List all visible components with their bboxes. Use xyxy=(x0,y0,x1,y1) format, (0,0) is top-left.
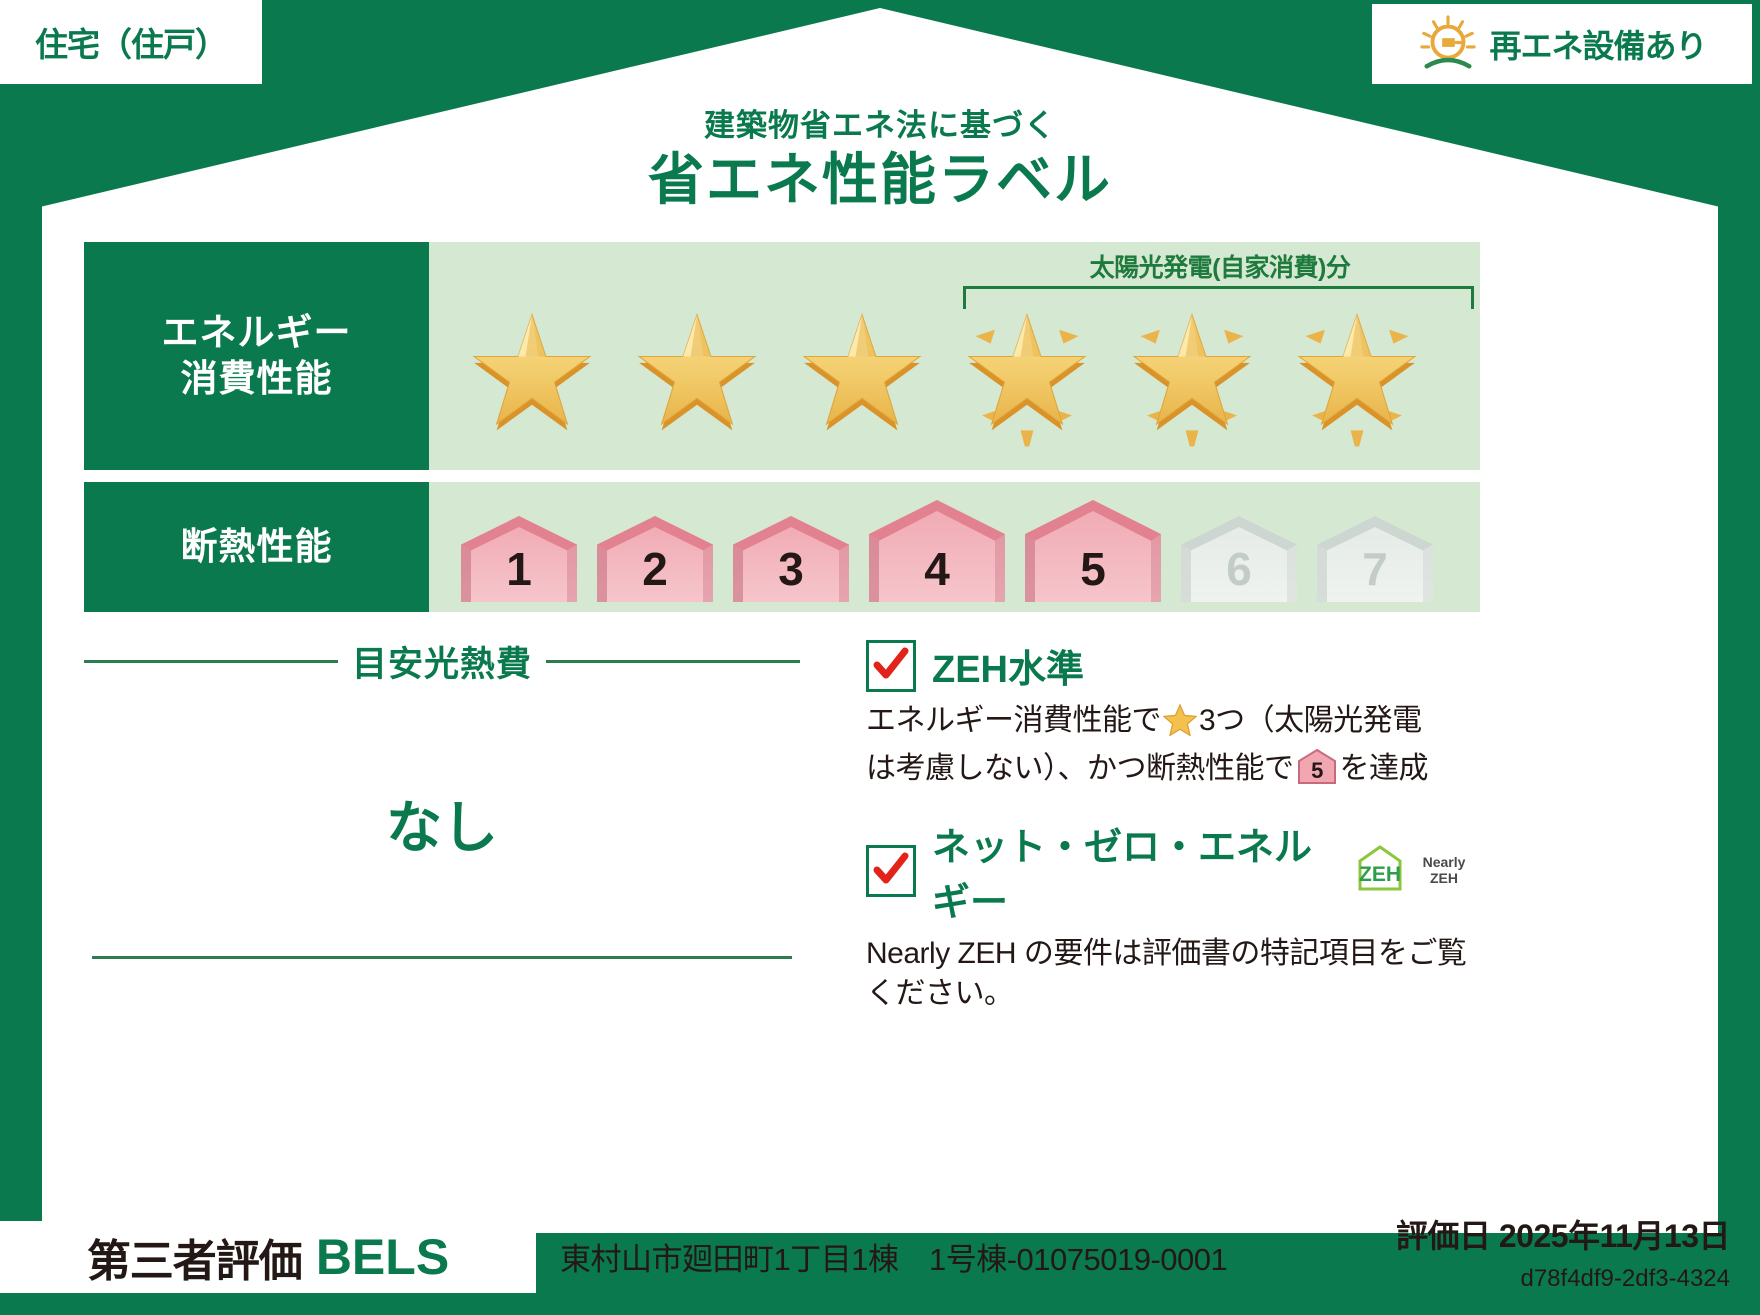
building-type-badge: 住宅（住戸） xyxy=(0,0,262,84)
inline-star-icon xyxy=(1163,710,1197,743)
insulation-level-number: 2 xyxy=(589,542,721,596)
bels-energy-label: 住宅（住戸） 再エネ設備あり 建築物省エ xyxy=(0,0,1760,1315)
rating-rows: エネルギー 消費性能 太陽光発電(自家消費)分 xyxy=(84,242,1480,624)
zeh-block: ZEH水準 エネルギー消費性能で3つ（太陽光発電は考慮しない）、かつ断熱性能で5… xyxy=(866,638,1486,1015)
energy-star-list xyxy=(429,289,1480,464)
insulation-level-7: 7 xyxy=(1309,512,1441,608)
energy-label-line1: エネルギー xyxy=(162,310,352,356)
insulation-label-text: 断熱性能 xyxy=(181,524,333,570)
star-icon xyxy=(787,304,937,454)
evaluation-date: 評価日 2025年11月13日 xyxy=(1396,1211,1730,1257)
star-icon xyxy=(457,304,607,454)
energy-label-line2: 消費性能 xyxy=(181,356,333,402)
zeh-desc-part-c: は考慮しない）、かつ断熱性能で xyxy=(866,752,1294,785)
check-icon xyxy=(871,848,911,890)
zeh-standard-description: エネルギー消費性能で3つ（太陽光発電は考慮しない）、かつ断熱性能で5を達成 xyxy=(866,701,1486,798)
insulation-performance-label: 断熱性能 xyxy=(84,482,429,612)
energy-star-4 xyxy=(944,294,1109,464)
estimated-cost-label: 目安光熱費 xyxy=(352,636,532,687)
insulation-level-number: 6 xyxy=(1173,542,1305,596)
svg-text:ZEH: ZEH xyxy=(1430,870,1458,886)
solar-plug-icon xyxy=(1417,13,1479,75)
insulation-level-1: 1 xyxy=(453,512,585,608)
inline-house-badge: 5 xyxy=(1297,760,1337,793)
net-zero-energy-row: ネット・ゼロ・エネルギー ZEH Nearly ZEH xyxy=(866,816,1486,926)
title-subtitle: 建築物省エネ法に基づく xyxy=(0,100,1760,145)
nearly-zeh-description: Nearly ZEH の要件は評価書の特記項目をご覧ください。 xyxy=(866,934,1486,1016)
insulation-level-6: 6 xyxy=(1173,512,1305,608)
zeh-desc-part-d: を達成 xyxy=(1340,752,1429,785)
insulation-level-5: 5 xyxy=(1017,496,1169,608)
energy-star-3 xyxy=(779,294,944,464)
insulation-level-list: 1 2 xyxy=(453,496,1441,608)
insulation-level-number: 7 xyxy=(1309,542,1441,596)
estimated-utility-cost-block: 目安光熱費 なし xyxy=(84,636,800,864)
energy-star-5 xyxy=(1109,294,1274,464)
heading-rule-right xyxy=(546,660,800,663)
zeh-desc-part-a: エネルギー消費性能で xyxy=(866,704,1161,737)
zeh-desc-part-b: 3つ（太陽光発電 xyxy=(1199,704,1422,737)
insulation-level-number: 4 xyxy=(861,542,1013,596)
energy-star-6 xyxy=(1274,294,1439,464)
star-icon xyxy=(952,304,1102,454)
insulation-level-number: 3 xyxy=(725,542,857,596)
renewable-energy-badge: 再エネ設備あり xyxy=(1372,4,1752,84)
heading-rule-left xyxy=(84,660,338,663)
svg-text:5: 5 xyxy=(1311,758,1323,783)
solar-bracket-label: 太陽光発電(自家消費)分 xyxy=(960,248,1480,284)
star-icon xyxy=(622,304,772,454)
evaluation-id: d78f4df9-2df3-4324 xyxy=(1520,1265,1730,1293)
bels-badge: 第三者評価 BELS xyxy=(0,1221,536,1293)
insulation-level-4: 4 xyxy=(861,496,1013,608)
check-icon xyxy=(871,643,911,685)
insulation-rating-body: 1 2 xyxy=(429,482,1480,612)
insulation-performance-row: 断熱性能 1 xyxy=(84,482,1480,612)
energy-performance-row: エネルギー 消費性能 太陽光発電(自家消費)分 xyxy=(84,242,1480,470)
energy-star-1 xyxy=(449,294,614,464)
nearly-zeh-logo: ZEH Nearly ZEH xyxy=(1354,843,1486,898)
insulation-level-number: 5 xyxy=(1017,542,1169,596)
page-title: 省エネ性能ラベル xyxy=(0,151,1760,210)
insulation-level-3: 3 xyxy=(725,512,857,608)
title-block: 建築物省エネ法に基づく 省エネ性能ラベル xyxy=(0,100,1760,210)
svg-text:Nearly: Nearly xyxy=(1423,854,1466,870)
bels-jp-label: 第三者評価 xyxy=(87,1225,302,1289)
property-address: 東村山市廻田町1丁目1棟 1号棟-01075019-0001 xyxy=(560,1234,1227,1279)
energy-performance-label: エネルギー 消費性能 xyxy=(84,242,429,470)
insulation-level-2: 2 xyxy=(589,512,721,608)
estimated-cost-heading: 目安光熱費 xyxy=(84,636,800,687)
net-zero-energy-checkbox[interactable] xyxy=(866,845,916,897)
renewable-energy-label: 再エネ設備あり xyxy=(1489,21,1706,67)
star-icon xyxy=(1117,304,1267,454)
svg-text:ZEH: ZEH xyxy=(1359,863,1401,886)
building-type-label: 住宅（住戸） xyxy=(35,18,227,66)
star-icon xyxy=(1282,304,1432,454)
zeh-standard-checkbox[interactable] xyxy=(866,640,916,692)
cost-bottom-rule xyxy=(92,956,792,959)
zeh-standard-row: ZEH水準 xyxy=(866,638,1486,693)
zeh-standard-label: ZEH水準 xyxy=(932,638,1084,693)
estimated-cost-value: なし xyxy=(84,783,800,864)
energy-rating-body: 太陽光発電(自家消費)分 xyxy=(429,242,1480,470)
bels-en-label: BELS xyxy=(316,1228,449,1286)
net-zero-energy-label: ネット・ゼロ・エネルギー xyxy=(932,816,1328,926)
energy-star-2 xyxy=(614,294,779,464)
insulation-level-number: 1 xyxy=(453,542,585,596)
footer: 第三者評価 BELS 東村山市廻田町1丁目1棟 1号棟-01075019-000… xyxy=(0,1205,1760,1315)
